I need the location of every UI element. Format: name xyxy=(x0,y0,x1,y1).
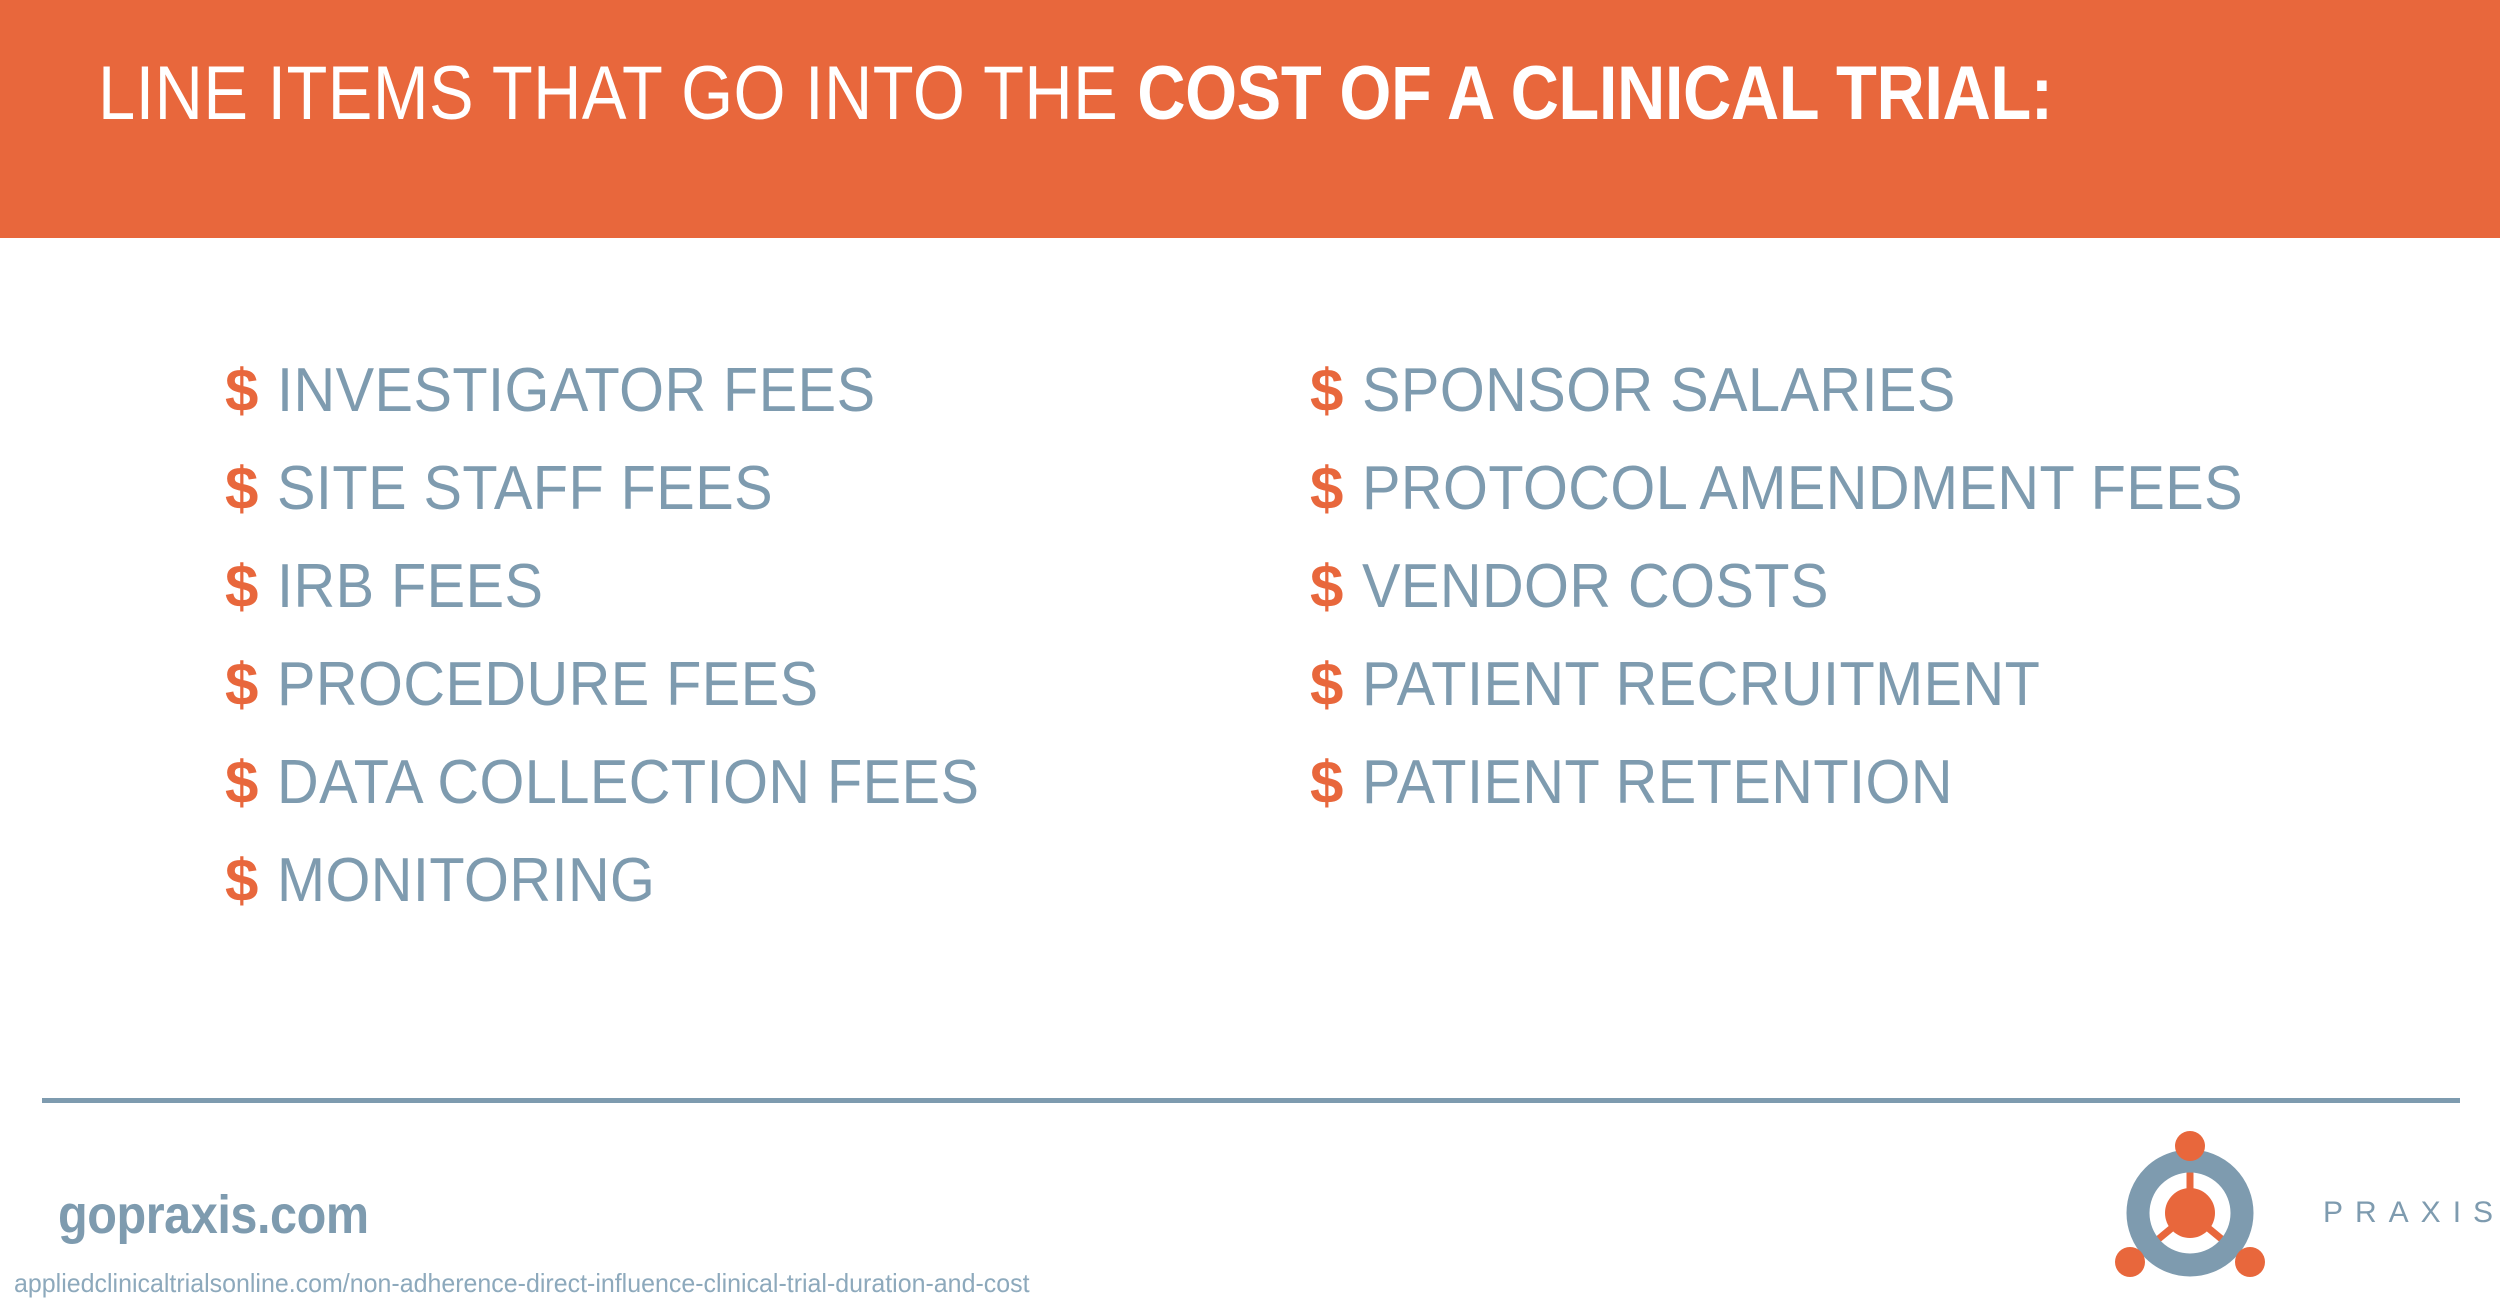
list-item: $ INVESTIGATOR FEES xyxy=(225,360,1032,458)
dollar-sign-icon: $ xyxy=(225,655,277,715)
list-item-label: PATIENT RETENTION xyxy=(1362,752,1953,814)
list-item: $ PATIENT RECRUITMENT xyxy=(1310,654,2309,752)
list-item: $ SPONSOR SALARIES xyxy=(1310,360,2309,458)
list-item: $ PROCEDURE FEES xyxy=(225,654,1032,752)
praxis-wordmark: PRAXIS xyxy=(2323,1196,2500,1230)
dollar-sign-icon: $ xyxy=(1310,459,1362,519)
list-item-label: PROCEDURE FEES xyxy=(277,654,819,716)
dollar-sign-icon: $ xyxy=(1310,557,1362,617)
dollar-sign-icon: $ xyxy=(225,753,277,813)
list-item-label: DATA COLLECTION FEES xyxy=(277,752,979,814)
page-title: LINE ITEMS THAT GO INTO THE COST OF A CL… xyxy=(98,50,2053,138)
list-item-label: PROTOCOL AMENDMENT FEES xyxy=(1362,458,2243,520)
praxis-logo: PRAXIS xyxy=(2105,1128,2485,1298)
list-item-label: SITE STAFF FEES xyxy=(277,458,773,520)
cost-line-item-lists: $ INVESTIGATOR FEES $ SITE STAFF FEES $ … xyxy=(0,360,2500,980)
footer-divider xyxy=(42,1098,2460,1103)
list-item-label: PATIENT RECRUITMENT xyxy=(1362,654,2040,716)
page-title-bold: COST OF A CLINICAL TRIAL: xyxy=(1137,51,2052,136)
dollar-sign-icon: $ xyxy=(1310,655,1362,715)
list-item: $ PATIENT RETENTION xyxy=(1310,752,2309,850)
dollar-sign-icon: $ xyxy=(225,557,277,617)
list-item: $ DATA COLLECTION FEES xyxy=(225,752,1032,850)
dollar-sign-icon: $ xyxy=(225,361,277,421)
list-column-right: $ SPONSOR SALARIES $ PROTOCOL AMENDMENT … xyxy=(1310,360,2309,850)
list-item: $ VENDOR COSTS xyxy=(1310,556,2309,654)
brand-website[interactable]: gopraxis.com xyxy=(58,1185,369,1245)
list-item: $ PROTOCOL AMENDMENT FEES xyxy=(1310,458,2309,556)
source-citation[interactable]: appliedclinicaltrialsonline.com/non-adhe… xyxy=(14,1268,1030,1298)
dollar-sign-icon: $ xyxy=(1310,361,1362,421)
list-item-label: INVESTIGATOR FEES xyxy=(277,360,875,422)
list-item: $ SITE STAFF FEES xyxy=(225,458,1032,556)
dollar-sign-icon: $ xyxy=(225,851,277,911)
dollar-sign-icon: $ xyxy=(1310,753,1362,813)
praxis-logo-icon xyxy=(2105,1128,2275,1298)
list-item-label: SPONSOR SALARIES xyxy=(1362,360,1956,422)
page-title-light: LINE ITEMS THAT GO INTO THE xyxy=(98,51,1137,136)
list-item-label: VENDOR COSTS xyxy=(1362,556,1829,618)
list-item-label: IRB FEES xyxy=(277,556,543,618)
list-item-label: MONITORING xyxy=(277,850,655,912)
header-band: LINE ITEMS THAT GO INTO THE COST OF A CL… xyxy=(0,0,2500,238)
list-column-left: $ INVESTIGATOR FEES $ SITE STAFF FEES $ … xyxy=(225,360,1032,948)
dollar-sign-icon: $ xyxy=(225,459,277,519)
list-item: $ IRB FEES xyxy=(225,556,1032,654)
list-item: $ MONITORING xyxy=(225,850,1032,948)
